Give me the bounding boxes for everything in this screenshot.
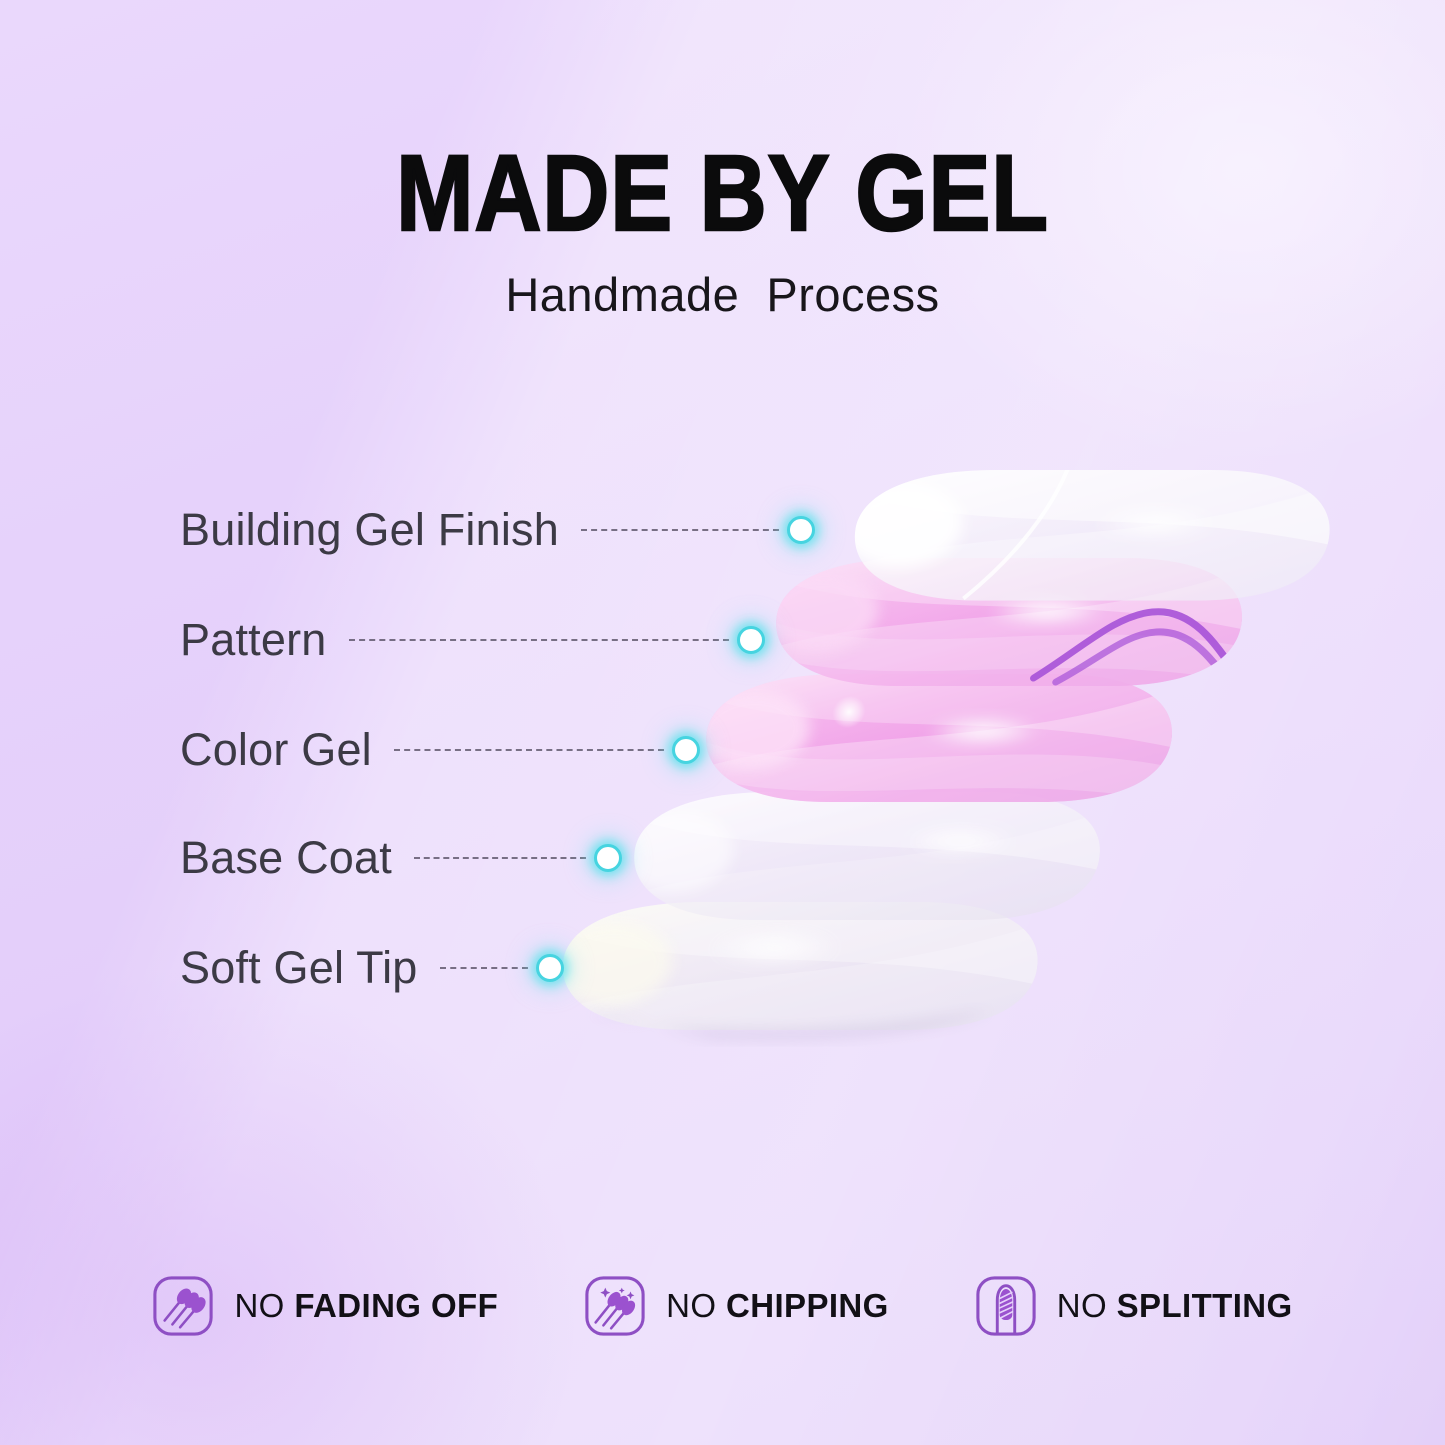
- layer-row-base-coat[interactable]: Base Coat: [180, 830, 622, 886]
- layer-label-pattern: Pattern: [180, 614, 327, 666]
- three-nails-icon: [152, 1275, 214, 1337]
- leader-line-base-coat: [414, 857, 586, 859]
- badge-label-no-splitting: NO SPLITTING: [1057, 1287, 1293, 1325]
- badge-no-splitting[interactable]: NO SPLITTING: [975, 1275, 1293, 1337]
- feature-badge-row: NO FADING OFF: [0, 1275, 1445, 1337]
- layer-label-list: Building Gel Finish Pattern Color Gel Ba…: [0, 0, 1445, 1445]
- layer-row-building-gel-finish[interactable]: Building Gel Finish: [180, 502, 815, 558]
- marker-dot-color-gel: [672, 736, 700, 764]
- layer-label-base-coat: Base Coat: [180, 832, 392, 884]
- badge-strong-no-chipping: CHIPPING: [726, 1287, 889, 1324]
- badge-strong-no-fading-off: FADING OFF: [294, 1287, 498, 1324]
- marker-dot-building-gel-finish: [787, 516, 815, 544]
- leader-line-pattern: [349, 639, 729, 641]
- leader-line-soft-gel-tip: [440, 967, 528, 969]
- leader-line-color-gel: [394, 749, 664, 751]
- layer-label-building-gel-finish: Building Gel Finish: [180, 504, 559, 556]
- layer-row-color-gel[interactable]: Color Gel: [180, 722, 700, 778]
- badge-no-chipping[interactable]: NO CHIPPING: [584, 1275, 889, 1337]
- badge-strong-no-splitting: SPLITTING: [1117, 1287, 1293, 1324]
- leader-line-building-gel-finish: [581, 529, 779, 531]
- marker-dot-soft-gel-tip: [536, 954, 564, 982]
- badge-lead-no-splitting: NO: [1057, 1287, 1117, 1324]
- badge-lead-no-chipping: NO: [666, 1287, 726, 1324]
- marker-dot-base-coat: [594, 844, 622, 872]
- striped-nail-icon: [975, 1275, 1037, 1337]
- layer-label-soft-gel-tip: Soft Gel Tip: [180, 942, 418, 994]
- badge-lead-no-fading-off: NO: [234, 1287, 294, 1324]
- sparkle-nails-icon: [584, 1275, 646, 1337]
- layer-row-pattern[interactable]: Pattern: [180, 612, 765, 668]
- layer-label-color-gel: Color Gel: [180, 724, 372, 776]
- badge-no-fading-off[interactable]: NO FADING OFF: [152, 1275, 498, 1337]
- poster-canvas: MADE BY GEL Handmade Process: [0, 0, 1445, 1445]
- badge-label-no-fading-off: NO FADING OFF: [234, 1287, 498, 1325]
- marker-dot-pattern: [737, 626, 765, 654]
- layer-row-soft-gel-tip[interactable]: Soft Gel Tip: [180, 940, 564, 996]
- badge-label-no-chipping: NO CHIPPING: [666, 1287, 889, 1325]
